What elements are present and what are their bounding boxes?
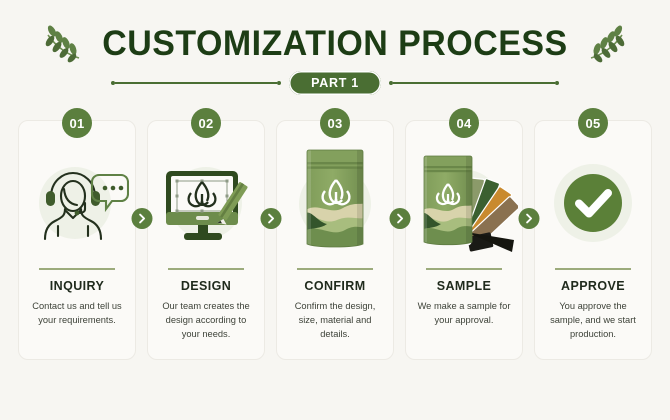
step-number-badge: 04 (449, 108, 479, 138)
step-number-badge: 02 (191, 108, 221, 138)
connector-gap (265, 120, 276, 360)
step-description: You approve the sample, and we start pro… (535, 299, 651, 341)
connector-gap (136, 120, 147, 360)
pouch-with-color-swatch-fan-icon (410, 142, 518, 260)
chevron-right-icon (523, 213, 534, 224)
card-divider (297, 268, 373, 270)
rule-dot (277, 81, 281, 85)
rule-line (115, 82, 277, 84)
check-circle-icon (541, 149, 645, 253)
part-badge: PART 1 (289, 71, 381, 95)
card-divider (555, 268, 631, 270)
step-card-design[interactable]: 02 (147, 120, 265, 360)
rule-dot (555, 81, 559, 85)
monitor-design-pencil-icon (154, 149, 258, 253)
step-number-badge: 03 (320, 108, 350, 138)
connector-arrow[interactable] (389, 208, 410, 229)
connector-gap (523, 120, 534, 360)
step-card-sample[interactable]: 04 (405, 120, 523, 360)
step-card-approve[interactable]: 05 APPROVE You approve the sample, and w… (534, 120, 652, 360)
step-title: INQUIRY (50, 279, 104, 293)
step-title: SAMPLE (437, 279, 492, 293)
olive-branch-icon (39, 22, 85, 66)
card-divider (39, 268, 115, 270)
rule-line (393, 82, 555, 84)
step-description: Our team creates the design according to… (148, 299, 264, 341)
step-number-badge: 05 (578, 108, 608, 138)
chevron-right-icon (265, 213, 276, 224)
step-illustration (405, 121, 523, 266)
process-steps: 01 (18, 120, 652, 360)
chevron-right-icon (394, 213, 405, 224)
step-illustration (147, 121, 265, 266)
step-title: DESIGN (181, 279, 231, 293)
card-divider (426, 268, 502, 270)
headset-support-agent-icon (25, 149, 129, 253)
page-title: CUSTOMIZATION PROCESS (102, 24, 567, 64)
step-card-inquiry[interactable]: 01 (18, 120, 136, 360)
step-card-confirm[interactable]: 03 (276, 120, 394, 360)
step-illustration (18, 121, 136, 266)
step-illustration (534, 121, 652, 266)
chevron-right-icon (136, 213, 147, 224)
part-bar: PART 1 (0, 70, 670, 96)
step-description: Confirm the design, size, material and d… (277, 299, 393, 341)
rule-right (389, 81, 559, 85)
card-divider (168, 268, 244, 270)
connector-arrow[interactable] (260, 208, 281, 229)
step-number-badge: 01 (62, 108, 92, 138)
title-row: CUSTOMIZATION PROCESS (0, 20, 670, 68)
rule-left (111, 81, 281, 85)
step-description: We make a sample for your approval. (406, 299, 522, 327)
connector-gap (394, 120, 405, 360)
connector-arrow[interactable] (131, 208, 152, 229)
step-title: APPROVE (561, 279, 625, 293)
olive-branch-icon (585, 22, 631, 66)
step-illustration (276, 121, 394, 266)
header: CUSTOMIZATION PROCESS PART 1 (0, 0, 670, 104)
stand-up-pouch-icon (283, 142, 387, 260)
connector-arrow[interactable] (518, 208, 539, 229)
step-description: Contact us and tell us your requirements… (19, 299, 135, 327)
step-title: CONFIRM (304, 279, 365, 293)
